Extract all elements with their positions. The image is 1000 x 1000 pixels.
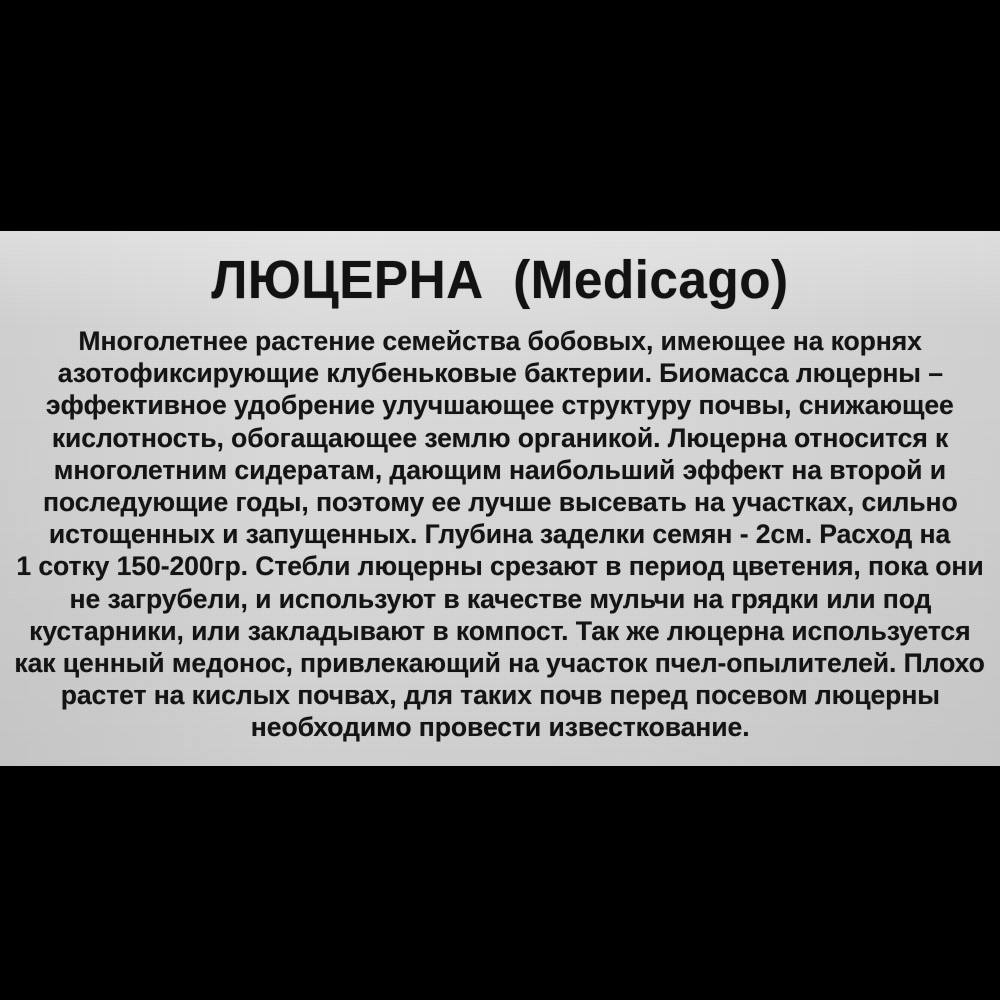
description-line-text: необходимо провести известкование. <box>251 711 750 743</box>
description-line: истощенных и запущенных. Глубина заделки… <box>0 518 1000 550</box>
description-line-text: эффективное удобрение улучшающее структу… <box>46 389 954 421</box>
description-line: как ценный медонос, привлекающий на учас… <box>0 647 1000 679</box>
description-line-text: кустарники, или закладывают в компост. Т… <box>29 615 970 647</box>
description-line-text: не загрубели, и используют в качестве му… <box>69 583 931 615</box>
description-line: кислотность, обогащающее землю органикой… <box>0 422 1000 454</box>
screenshot-root: ЛЮЦЕРНА (Medicago) Многолетнее растение … <box>0 0 1000 1000</box>
description-line: азотофиксирующие клубеньковые бактерии. … <box>0 357 1000 389</box>
description-line-text: как ценный медонос, привлекающий на учас… <box>15 647 985 679</box>
description-line-text: 1 сотку 150-200гр. Стебли люцерны срезаю… <box>16 550 983 582</box>
description-line-text: многолетним сидератам, дающим наибольший… <box>54 454 946 486</box>
label-title: ЛЮЦЕРНА (Medicago) <box>25 248 975 312</box>
description-line-text: кислотность, обогащающее землю органикой… <box>52 422 948 454</box>
description-line: кустарники, или закладывают в компост. Т… <box>0 615 1000 647</box>
label-description-text: Многолетнее растение семейства бобовых, … <box>0 325 1000 744</box>
description-line-text: азотофиксирующие клубеньковые бактерии. … <box>57 357 942 389</box>
description-line: Многолетнее растение семейства бобовых, … <box>0 325 1000 357</box>
description-line-text: растет на кислых почвах, для таких почв … <box>60 679 939 711</box>
description-line-text: Многолетнее растение семейства бобовых, … <box>78 325 921 357</box>
description-line: эффективное удобрение улучшающее структу… <box>0 389 1000 421</box>
seed-packet-label-panel: ЛЮЦЕРНА (Medicago) Многолетнее растение … <box>0 231 1000 766</box>
description-line-text: истощенных и запущенных. Глубина заделки… <box>49 518 950 550</box>
description-line: необходимо провести известкование. <box>0 711 1000 743</box>
description-line: не загрубели, и используют в качестве му… <box>0 583 1000 615</box>
letterbox-bar-bottom <box>0 766 1000 1000</box>
description-line: последующие годы, поэтому ее лучше высев… <box>0 486 1000 518</box>
description-line-text: последующие годы, поэтому ее лучше высев… <box>43 486 958 518</box>
letterbox-bar-top <box>0 0 1000 231</box>
description-line: многолетним сидератам, дающим наибольший… <box>0 454 1000 486</box>
description-line: растет на кислых почвах, для таких почв … <box>0 679 1000 711</box>
description-line: 1 сотку 150-200гр. Стебли люцерны срезаю… <box>0 550 1000 582</box>
